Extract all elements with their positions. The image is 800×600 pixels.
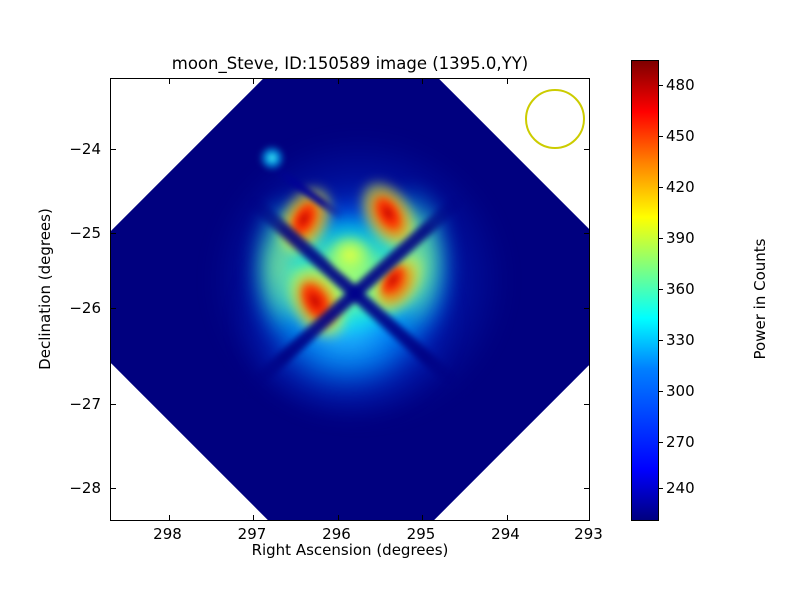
colorbar-tick-label: 450 bbox=[666, 127, 695, 145]
sky-image-clip bbox=[111, 79, 590, 521]
colorbar-tick bbox=[658, 442, 663, 443]
moon-disc-circle bbox=[525, 89, 585, 149]
ytick-mark-right bbox=[584, 308, 589, 309]
xtick-mark bbox=[422, 515, 423, 520]
ytick-mark-right bbox=[584, 404, 589, 405]
figure-canvas: moon_Steve, ID:150589 image (1395.0,YY) bbox=[0, 0, 800, 600]
colorbar-tick-label: 390 bbox=[666, 229, 695, 247]
quadrupole-core bbox=[329, 235, 371, 275]
secondary-point-source bbox=[259, 145, 285, 171]
colorbar-tick bbox=[658, 85, 663, 86]
xtick-mark bbox=[338, 515, 339, 520]
colorbar-tick-label: 270 bbox=[666, 433, 695, 451]
colorbar[interactable] bbox=[631, 60, 659, 521]
colorbar-tick bbox=[658, 238, 663, 239]
ytick-mark-right bbox=[584, 149, 589, 150]
sky-image-field bbox=[111, 79, 590, 521]
colorbar-tick-label: 330 bbox=[666, 331, 695, 349]
ytick-label: −24 bbox=[41, 140, 101, 158]
colorbar-tick bbox=[658, 391, 663, 392]
ytick-mark bbox=[111, 233, 116, 234]
colorbar-tick bbox=[658, 340, 663, 341]
colorbar-tick bbox=[658, 289, 663, 290]
sky-image-footprint bbox=[111, 79, 590, 521]
colorbar-tick-label: 420 bbox=[666, 178, 695, 196]
xtick-mark bbox=[507, 515, 508, 520]
ytick-mark-right bbox=[584, 488, 589, 489]
colorbar-tick-label: 360 bbox=[666, 280, 695, 298]
ytick-label: −28 bbox=[41, 479, 101, 497]
colorbar-tick-label: 300 bbox=[666, 382, 695, 400]
page-title: moon_Steve, ID:150589 image (1395.0,YY) bbox=[110, 54, 590, 73]
xtick-mark bbox=[169, 515, 170, 520]
xtick-mark bbox=[253, 515, 254, 520]
xtick-mark bbox=[590, 515, 591, 520]
colorbar-tick bbox=[658, 187, 663, 188]
ytick-label: −27 bbox=[41, 395, 101, 413]
colorbar-tick bbox=[658, 488, 663, 489]
x-axis-label: Right Ascension (degrees) bbox=[110, 541, 590, 559]
xtick-mark-top bbox=[169, 79, 170, 84]
ytick-mark bbox=[111, 404, 116, 405]
xtick-mark-top bbox=[422, 79, 423, 84]
sky-image-axes[interactable] bbox=[110, 78, 590, 521]
colorbar-tick bbox=[658, 136, 663, 137]
colorbar-tick-label: 480 bbox=[666, 76, 695, 94]
ytick-mark bbox=[111, 149, 116, 150]
ytick-mark bbox=[111, 488, 116, 489]
xtick-mark-top bbox=[507, 79, 508, 84]
xtick-mark-top bbox=[338, 79, 339, 84]
colorbar-label: Power in Counts bbox=[751, 179, 769, 419]
xtick-mark-top bbox=[590, 79, 591, 84]
ytick-mark-right bbox=[584, 233, 589, 234]
colorbar-gradient bbox=[632, 61, 658, 520]
xtick-mark-top bbox=[253, 79, 254, 84]
ytick-mark bbox=[111, 308, 116, 309]
colorbar-tick-label: 240 bbox=[666, 479, 695, 497]
y-axis-label: Declination (degrees) bbox=[36, 189, 54, 389]
